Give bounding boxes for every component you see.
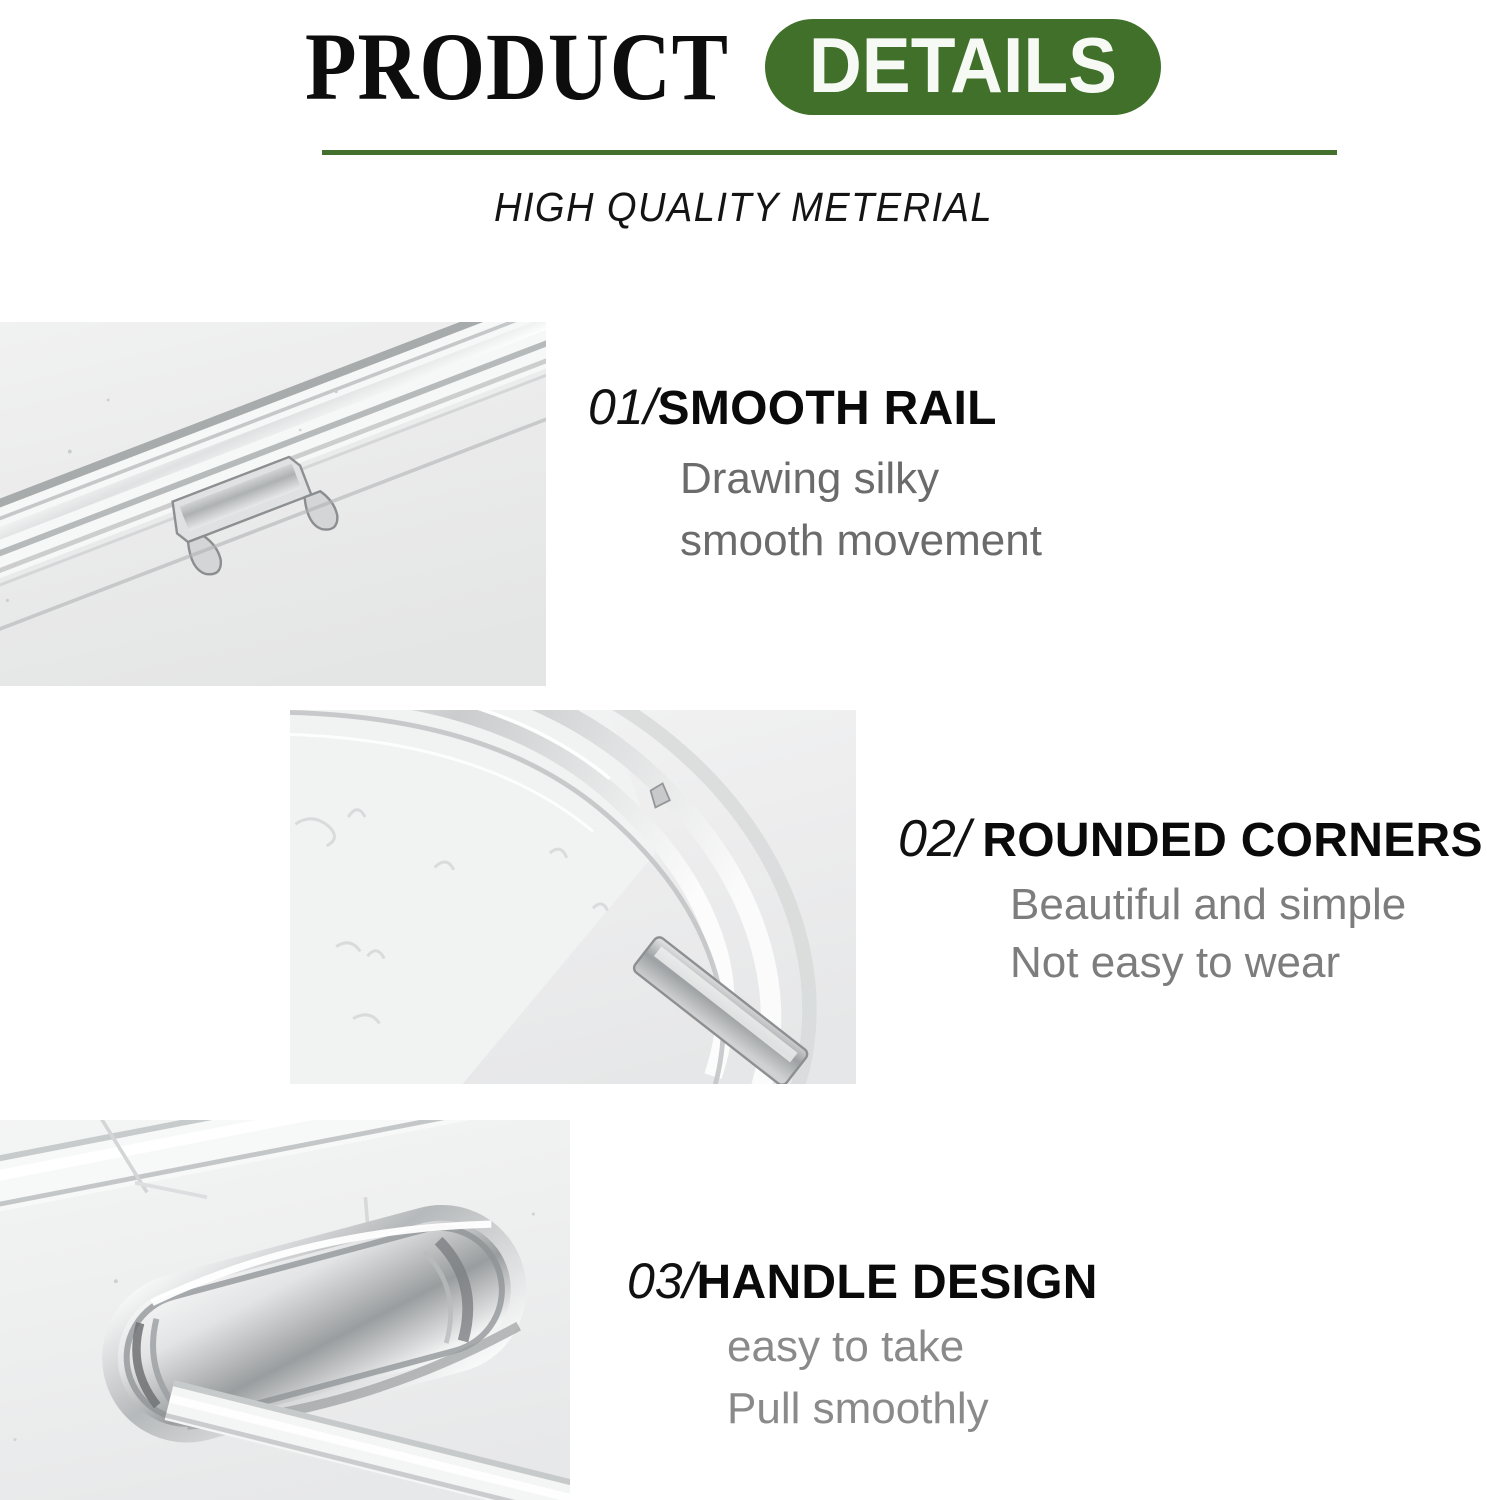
header-subtitle: HIGH QUALITY METERIAL: [52, 182, 1435, 232]
feature-number: 03/: [627, 1252, 697, 1310]
details-badge: DETAILS: [765, 19, 1161, 115]
feature-block-smooth-rail: 01/ SMOOTH RAIL Drawing silky smooth mov…: [588, 378, 1042, 572]
rounded-corners-illustration: [290, 710, 856, 1084]
product-photo-rounded-corners: [290, 710, 856, 1084]
feature-line-1: Beautiful and simple: [1010, 876, 1483, 934]
feature-block-handle-design: 03/ HANDLE DESIGN easy to take Pull smoo…: [627, 1252, 1098, 1440]
handle-design-illustration: [0, 1120, 570, 1500]
feature-number: 01/: [588, 378, 658, 436]
feature-heading: 03/ HANDLE DESIGN: [627, 1252, 1098, 1312]
feature-heading: 01/ SMOOTH RAIL: [588, 378, 1042, 438]
smooth-rail-illustration: [0, 322, 546, 686]
page-title: PRODUCT DETAILS: [305, 12, 1161, 122]
feature-number: 02/: [898, 810, 970, 868]
feature-line-2: smooth movement: [680, 510, 1042, 572]
header-banner: PRODUCT DETAILS HIGH QUALITY METERIAL: [0, 0, 1487, 240]
feature-line-1: easy to take: [727, 1316, 1098, 1378]
feature-line-1: Drawing silky: [680, 448, 1042, 510]
feature-heading: 02/ ROUNDED CORNERS: [898, 810, 1483, 870]
feature-title: ROUNDED CORNERS: [982, 812, 1483, 870]
feature-block-rounded-corners: 02/ ROUNDED CORNERS Beautiful and simple…: [898, 810, 1483, 992]
feature-body: Drawing silky smooth movement: [588, 448, 1042, 572]
product-photo-smooth-rail: [0, 322, 546, 686]
feature-title: SMOOTH RAIL: [658, 380, 997, 438]
product-photo-handle-design: [0, 1120, 570, 1500]
feature-body: easy to take Pull smoothly: [627, 1316, 1098, 1440]
page-title-main: PRODUCT: [305, 15, 729, 119]
details-badge-label: DETAILS: [808, 25, 1116, 105]
header-divider-rule: [322, 150, 1337, 155]
feature-line-2: Pull smoothly: [727, 1378, 1098, 1440]
feature-line-2: Not easy to wear: [1010, 934, 1483, 992]
feature-title: HANDLE DESIGN: [697, 1254, 1098, 1312]
feature-body: Beautiful and simple Not easy to wear: [898, 876, 1483, 992]
